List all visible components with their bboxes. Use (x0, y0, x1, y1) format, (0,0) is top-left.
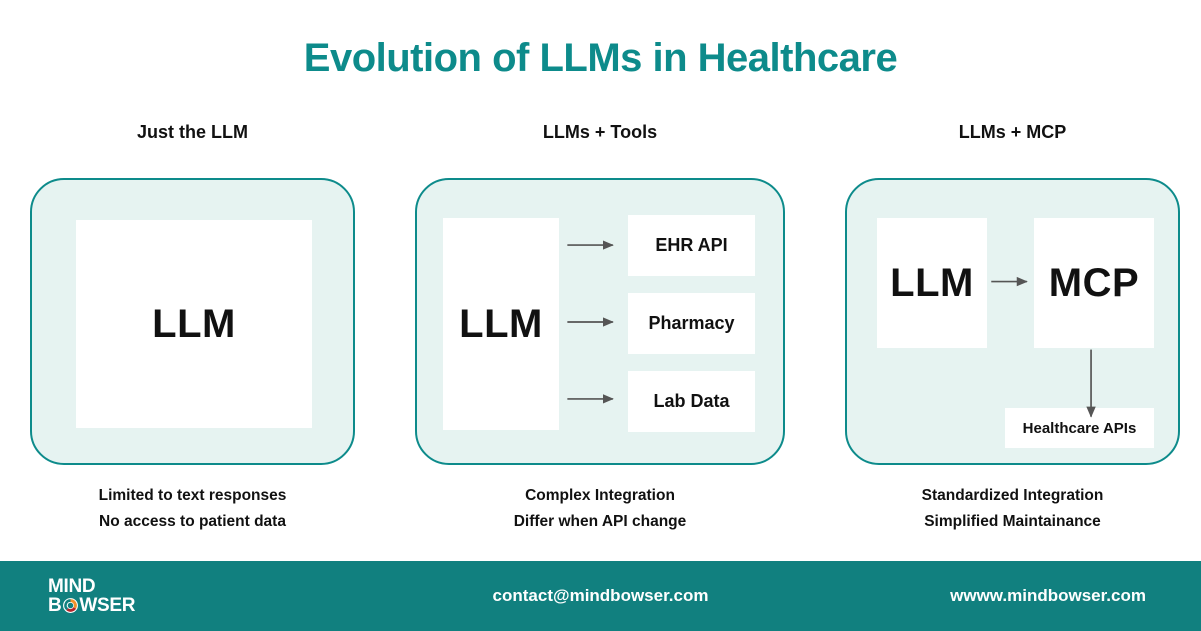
caption-line: Standardized Integration (845, 483, 1180, 509)
page-title: Evolution of LLMs in Healthcare (0, 36, 1201, 81)
caption-line: Limited to text responses (30, 483, 355, 509)
node-mcp: MCP (1034, 218, 1154, 348)
columns-container: Just the LLM LLM Limited to text respons… (0, 120, 1201, 540)
node-llm: LLM (443, 218, 559, 430)
caption-line: Complex Integration (415, 483, 785, 509)
column-caption: Standardized Integration Simplified Main… (845, 483, 1180, 535)
caption-line: Simplified Maintainance (845, 509, 1180, 535)
column-just-the-llm: Just the LLM LLM Limited to text respons… (30, 120, 355, 535)
column-llms-plus-mcp: LLMs + MCP LLM MCP Healthcare APIs (845, 120, 1180, 535)
column-llms-plus-tools: LLMs + Tools LLM EHR API Pharmacy Lab Da… (415, 120, 785, 535)
panel-llms-plus-mcp: LLM MCP Healthcare APIs (845, 178, 1180, 465)
caption-line: Differ when API change (415, 509, 785, 535)
panel-just-the-llm: LLM (30, 178, 355, 465)
column-heading: LLMs + MCP (845, 120, 1180, 144)
column-heading: LLMs + Tools (415, 120, 785, 144)
caption-line: No access to patient data (30, 509, 355, 535)
panel-llms-plus-tools: LLM EHR API Pharmacy Lab Data (415, 178, 785, 465)
column-caption: Limited to text responses No access to p… (30, 483, 355, 535)
column-heading: Just the LLM (30, 120, 355, 144)
node-pharmacy: Pharmacy (628, 293, 755, 354)
node-healthcare-apis: Healthcare APIs (1005, 408, 1154, 448)
node-llm: LLM (877, 218, 987, 348)
column-caption: Complex Integration Differ when API chan… (415, 483, 785, 535)
node-ehr-api: EHR API (628, 215, 755, 276)
node-lab-data: Lab Data (628, 371, 755, 432)
node-llm: LLM (76, 220, 312, 428)
footer-website[interactable]: wwww.mindbowser.com (950, 586, 1146, 606)
footer-bar: MIND B WSER contact@mindbowser.com wwww.… (0, 561, 1201, 631)
infographic-canvas: Evolution of LLMs in Healthcare Just the… (0, 0, 1201, 631)
